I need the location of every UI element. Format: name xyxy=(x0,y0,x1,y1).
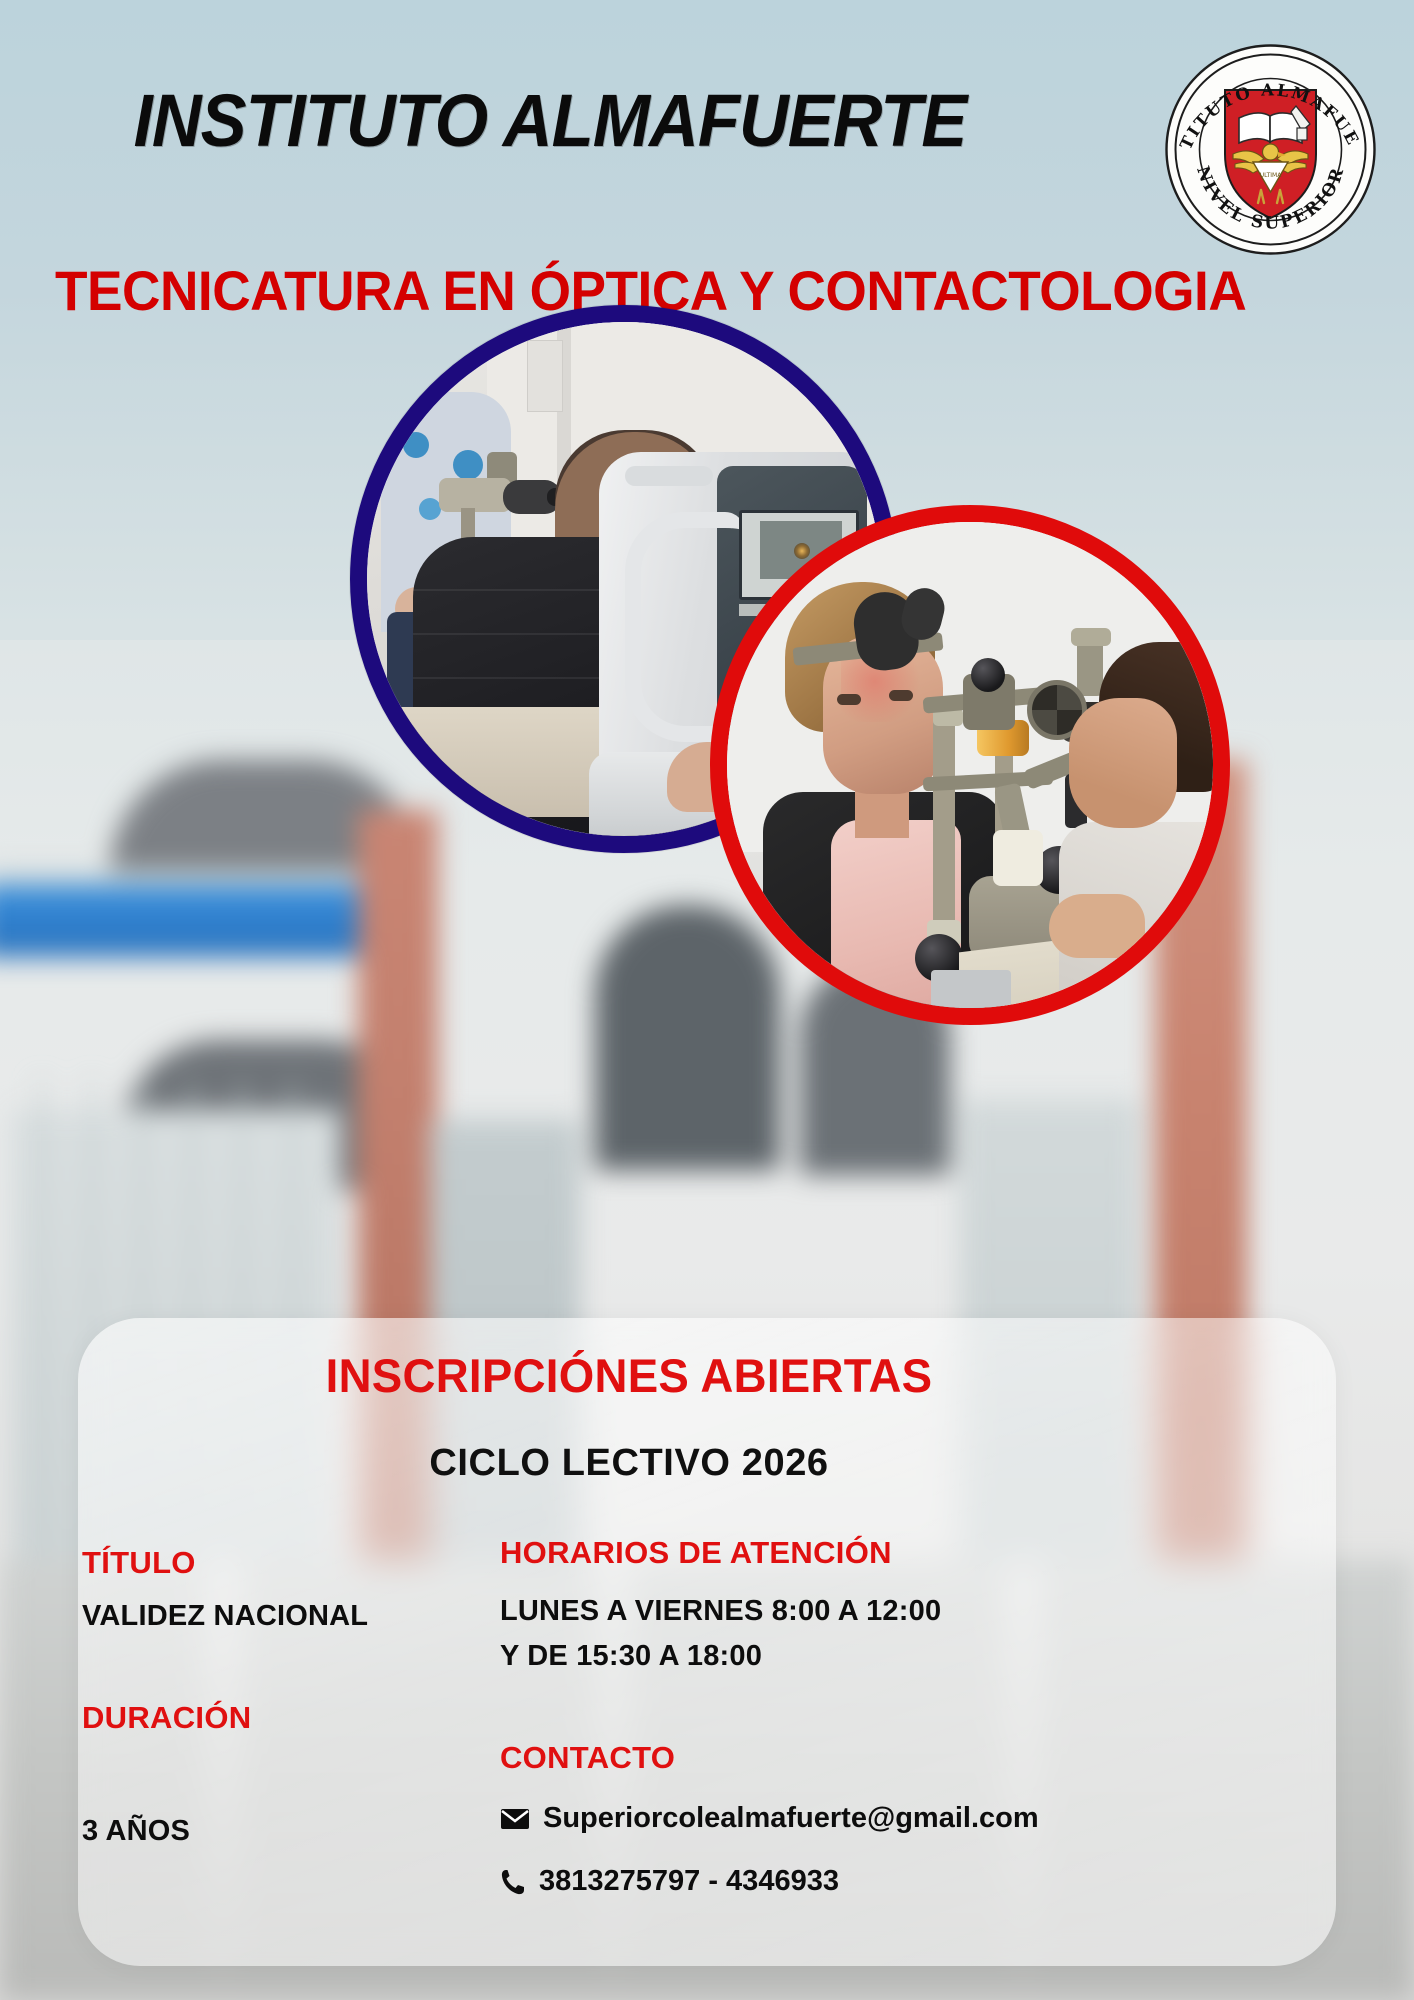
envelope-icon xyxy=(500,1808,530,1830)
railing-bar xyxy=(40,1080,44,1600)
institute-logo: ULTIMA INSTITUTO ALMAFUERTE NIVEL SUPERI… xyxy=(1163,42,1378,257)
email-row[interactable]: Superiorcolealmafuerte@gmail.com xyxy=(500,1802,1039,1835)
horarios-label: HORARIOS DE ATENCIÓN xyxy=(500,1535,892,1571)
cycle-heading: CICLO LECTIVO 2026 xyxy=(0,1442,1258,1485)
contacto-label: CONTACTO xyxy=(500,1740,675,1776)
email-text: Superiorcolealmafuerte@gmail.com xyxy=(543,1802,1039,1835)
phone-icon xyxy=(500,1868,526,1896)
poster-root: INSTITUTO ALMAFUERTE TECNICATURA EN ÓPTI… xyxy=(0,0,1414,2000)
page-title: INSTITUTO ALMAFUERTE xyxy=(39,78,1062,163)
horarios-line-2: Y DE 15:30 A 18:00 xyxy=(500,1640,762,1673)
duracion-value: 3 AÑOS xyxy=(82,1815,190,1848)
slit-lamp-exam-photo xyxy=(710,505,1230,1025)
announcement-heading: INSCRIPCIÓNES ABIERTAS xyxy=(19,1348,1239,1403)
photo-content xyxy=(727,522,1213,1008)
phone-text: 3813275797 - 4346933 xyxy=(539,1865,839,1898)
titulo-label: TÍTULO xyxy=(82,1545,196,1581)
horarios-line-1: LUNES A VIERNES 8:00 A 12:00 xyxy=(500,1595,941,1628)
svg-text:ULTIMA: ULTIMA xyxy=(1260,172,1283,179)
awning-highlight xyxy=(0,870,390,886)
phone-row[interactable]: 3813275797 - 4346933 xyxy=(500,1865,839,1898)
blue-awning xyxy=(0,885,400,957)
duracion-label: DURACIÓN xyxy=(82,1700,251,1736)
titulo-value: VALIDEZ NACIONAL xyxy=(82,1600,368,1633)
